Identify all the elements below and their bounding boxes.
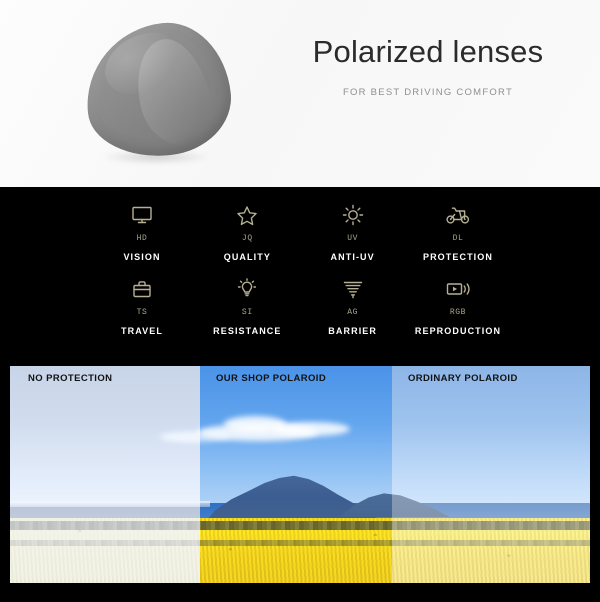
feature-grid-section: HD VISION JQ QUALITY xyxy=(0,187,600,366)
product-banner: Polarized lenses FOR BEST DRIVING COMFOR… xyxy=(0,0,600,602)
landscape-scene xyxy=(10,366,590,583)
hedgerow-secondary xyxy=(10,540,590,546)
tornado-icon xyxy=(301,275,405,303)
sun-icon xyxy=(301,201,405,229)
feature-label: ANTI-UV xyxy=(301,252,405,262)
far-shoreline xyxy=(10,501,210,507)
monitor-icon xyxy=(90,201,194,229)
panel-label-ordinary: ORDINARY POLAROID xyxy=(408,373,518,384)
feature-code: DL xyxy=(406,234,510,243)
feature-item-protection[interactable]: DL PROTECTION xyxy=(406,201,510,262)
lens-highlight-secondary xyxy=(95,21,191,106)
feature-label: REPRODUCTION xyxy=(406,326,510,336)
feature-item-reproduction[interactable]: RGB REPRODUCTION xyxy=(406,275,510,336)
panel-label-our-shop: OUR SHOP POLAROID xyxy=(216,373,326,384)
lightbulb-icon xyxy=(195,275,299,303)
hero-text-block: Polarized lenses FOR BEST DRIVING COMFOR… xyxy=(268,34,588,98)
feature-label: QUALITY xyxy=(195,252,299,262)
sunglass-lens-icon xyxy=(79,17,236,163)
comparison-section: NO PROTECTION OUR SHOP POLAROID ORDINARY… xyxy=(0,366,600,602)
feature-label: BARRIER xyxy=(301,326,405,336)
feature-label: PROTECTION xyxy=(406,252,510,262)
feature-code: AG xyxy=(301,308,405,317)
feature-code: JQ xyxy=(195,234,299,243)
page-title: Polarized lenses xyxy=(268,34,588,70)
cloud xyxy=(272,422,350,436)
comparison-photo: NO PROTECTION OUR SHOP POLAROID ORDINARY… xyxy=(10,366,590,583)
lens-illustration xyxy=(78,22,238,167)
feature-code: HD xyxy=(90,234,194,243)
feature-code: SI xyxy=(195,308,299,317)
feature-item-anti-uv[interactable]: UV ANTI-UV xyxy=(301,201,405,262)
cloud xyxy=(160,432,230,442)
feature-code: TS xyxy=(90,308,194,317)
video-icon xyxy=(406,275,510,303)
feature-item-vision[interactable]: HD VISION xyxy=(90,201,194,262)
feature-item-quality[interactable]: JQ QUALITY xyxy=(195,201,299,262)
feature-label: RESISTANCE xyxy=(195,326,299,336)
star-icon xyxy=(195,201,299,229)
scooter-icon xyxy=(406,201,510,229)
panel-label-no-protection: NO PROTECTION xyxy=(28,373,112,384)
feature-row-1: HD VISION JQ QUALITY xyxy=(90,201,510,262)
feature-item-barrier[interactable]: AG BARRIER xyxy=(301,275,405,336)
page-subtitle: FOR BEST DRIVING COMFORT xyxy=(268,87,588,98)
feature-label: VISION xyxy=(90,252,194,262)
hero-section: Polarized lenses FOR BEST DRIVING COMFOR… xyxy=(0,0,600,187)
hedgerow xyxy=(10,521,590,530)
feature-item-travel[interactable]: TS TRAVEL xyxy=(90,275,194,336)
feature-label: TRAVEL xyxy=(90,326,194,336)
feature-code: RGB xyxy=(406,308,510,317)
feature-code: UV xyxy=(301,234,405,243)
briefcase-icon xyxy=(90,275,194,303)
feature-item-resistance[interactable]: SI RESISTANCE xyxy=(195,275,299,336)
lens-highlight xyxy=(126,32,220,154)
feature-row-2: TS TRAVEL SI RESI xyxy=(90,275,510,336)
